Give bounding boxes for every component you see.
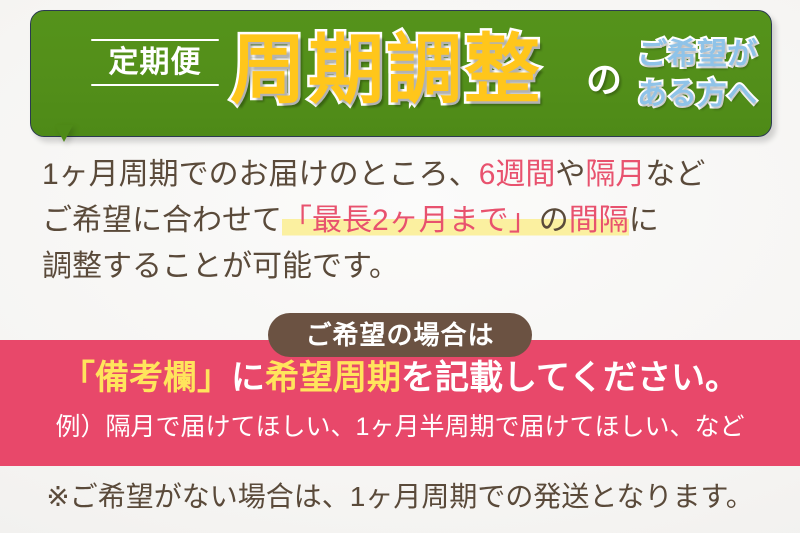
desc-l2-seg3: の <box>539 204 569 237</box>
desc-l1-seg3: や <box>555 158 585 191</box>
instruction-seg4: を記載してください。 <box>401 359 739 397</box>
desc-l3-seg1: 調整することが可能です。 <box>42 250 399 283</box>
description-line-1: 1ヶ月周期でのお届けのところ、6週間や隔月など <box>42 152 772 198</box>
instruction-examples: 例）隔月で届けてほしい、1ヶ月半周期で届けてほしい、など <box>0 412 800 442</box>
description-line-2: ご希望に合わせて「最長2ヶ月まで」の間隔に <box>42 198 772 244</box>
badge-label: 定期便 <box>85 47 225 79</box>
desc-l1-seg1: 1ヶ月周期でのお届けのところ、 <box>42 158 479 191</box>
desc-l2-seg5: に <box>629 204 659 237</box>
badge-rule-top-icon <box>91 39 219 41</box>
desc-l1-seg5: など <box>645 158 705 191</box>
promo-banner: 定期便 周期調整 の ご希望が ある方へ 1ヶ月周期でのお届けのところ、6週間や… <box>0 0 800 533</box>
instruction-field-name: 「備考欄」 <box>61 359 231 397</box>
desc-l1-highlight-6weeks: 6週間 <box>479 158 556 191</box>
instruction-seg2: に <box>231 359 265 397</box>
title-connector: の <box>586 62 622 98</box>
subscription-badge: 定期便 <box>85 39 225 86</box>
badge-rule-bottom-icon <box>91 84 219 86</box>
desc-l1-highlight-bimonthly: 隔月 <box>585 158 645 191</box>
desc-l2-highlight-interval: 間隔 <box>569 204 629 237</box>
request-case-pill: ご希望の場合は <box>268 313 532 357</box>
bubble-tail-icon <box>55 125 73 142</box>
header-subtitle-line2: ある方へ <box>637 75 800 115</box>
instruction-desired-cycle: 希望周期 <box>265 359 401 397</box>
header-subtitle: ご希望が ある方へ <box>637 35 800 115</box>
header-speech-bubble: 定期便 周期調整 の ご希望が ある方へ <box>30 10 772 137</box>
description-line-3: 調整することが可能です。 <box>42 244 772 290</box>
desc-l2-seg1: ご希望に合わせて <box>42 204 282 237</box>
footnote-text: ※ご希望がない場合は、1ヶ月周期での発送となります。 <box>0 480 800 514</box>
desc-l2-highlight-maxtwomonths: 「最長2ヶ月まで」 <box>282 204 539 237</box>
instruction-band: 「備考欄」に希望周期を記載してください。 例）隔月で届けてほしい、1ヶ月半周期で… <box>0 340 800 466</box>
request-case-pill-label: ご希望の場合は <box>305 322 494 348</box>
header-subtitle-line1: ご希望が <box>637 35 800 75</box>
page-title: 周期調整 <box>230 26 542 116</box>
description-paragraph: 1ヶ月周期でのお届けのところ、6週間や隔月など ご希望に合わせて「最長2ヶ月まで… <box>42 152 772 290</box>
instruction-headline: 「備考欄」に希望周期を記載してください。 <box>0 358 800 399</box>
